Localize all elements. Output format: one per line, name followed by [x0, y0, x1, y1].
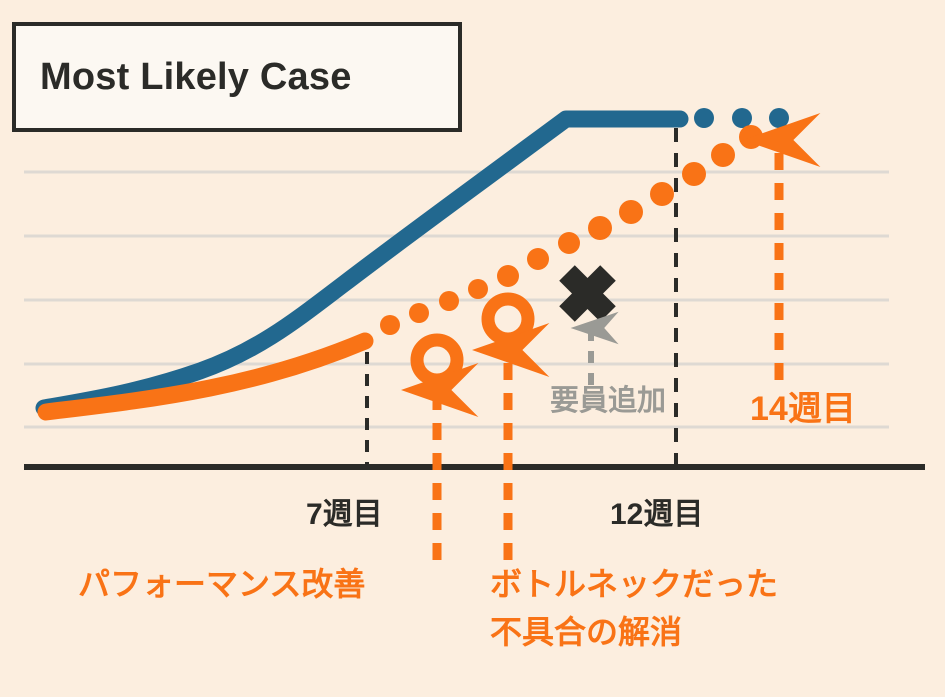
- orange-dot: [682, 162, 706, 186]
- orange-dot: [619, 200, 643, 224]
- orange-dot: [711, 143, 735, 167]
- orange-dot: [588, 216, 612, 240]
- orange-dot: [558, 232, 580, 254]
- blue-dotted-points: [694, 108, 789, 128]
- chart-canvas: Most Likely Case 7週目 12週目 14週目 要員追加 パフォー…: [0, 0, 945, 697]
- week12-label: 12週目: [610, 498, 703, 533]
- orange-dot: [497, 265, 519, 287]
- orange-dot: [650, 182, 674, 206]
- bottleneck-label-line2: 不具合の解消: [490, 614, 682, 651]
- bottleneck-label-line1: ボトルネックだった: [490, 566, 778, 603]
- week7-label: 7週目: [306, 498, 383, 533]
- blue-dot: [769, 108, 789, 128]
- orange-dot: [380, 315, 400, 335]
- staffing-cross-icon: [567, 273, 608, 314]
- orange-dot: [468, 279, 488, 299]
- blue-dot: [694, 108, 714, 128]
- blue-dot: [732, 108, 752, 128]
- staffing-label: 要員追加: [550, 385, 666, 418]
- performance-improvement-label: パフォーマンス改善: [78, 566, 365, 603]
- orange-dot: [439, 291, 459, 311]
- title-box: Most Likely Case: [12, 22, 462, 132]
- orange-dot: [409, 303, 429, 323]
- page-title: Most Likely Case: [40, 56, 352, 99]
- orange-dot: [527, 248, 549, 270]
- week14-label: 14週目: [750, 390, 856, 429]
- orange-dot: [739, 125, 763, 149]
